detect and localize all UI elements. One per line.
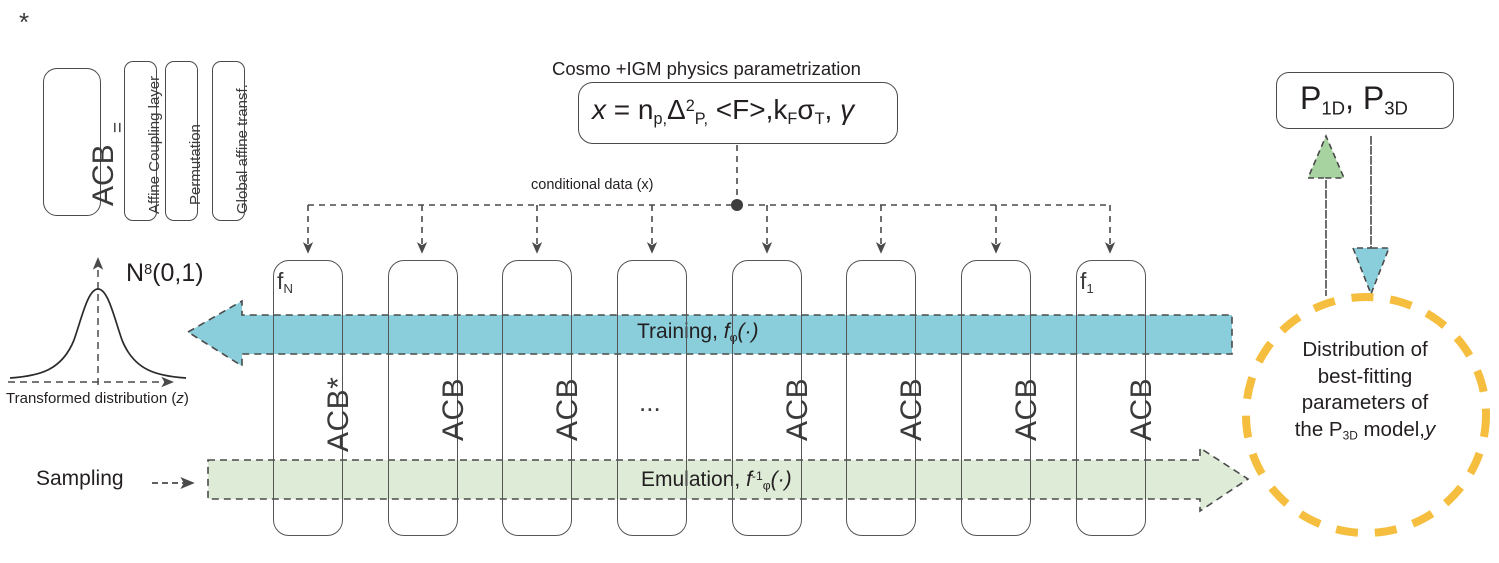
acb-block-8-body-label: ACB <box>1125 378 1159 441</box>
power-spectra-label: P1D, P3D <box>1300 80 1408 120</box>
circle-line-3: parameters of <box>1302 391 1428 414</box>
circle-line-4: the P3D model,y <box>1295 418 1436 441</box>
sampling-arrow-icon <box>150 470 210 496</box>
acb-block-1-body-label: ACB* <box>322 377 356 452</box>
acb-block-5-body-label: ACB <box>781 378 815 441</box>
acb-block-2-body-label: ACB <box>437 378 471 441</box>
acb-block-1-top-label: fN <box>277 268 293 296</box>
parameter-distribution-text: Distribution of best-fitting parameters … <box>1258 337 1472 444</box>
acb-block-3-body-label: ACB <box>551 378 585 441</box>
circle-line-1: Distribution of <box>1302 338 1427 361</box>
gaussian-label: N8(0,1) <box>126 259 204 288</box>
acb-block-6-body-label: ACB <box>895 378 929 441</box>
sampling-label: Sampling <box>36 467 124 491</box>
circle-line-2: best-fitting <box>1318 365 1413 388</box>
acb-block-8-top-label: f1 <box>1080 268 1094 296</box>
transformed-distribution-caption: Transformed distribution (z) <box>6 390 189 407</box>
acb-block-ellipsis-label: ... <box>639 387 661 418</box>
diagram-canvas: * ACB = Affine Coupling layer Permutatio… <box>0 0 1499 563</box>
acb-block-7-body-label: ACB <box>1010 378 1044 441</box>
bidirectional-arrows <box>1296 128 1416 300</box>
